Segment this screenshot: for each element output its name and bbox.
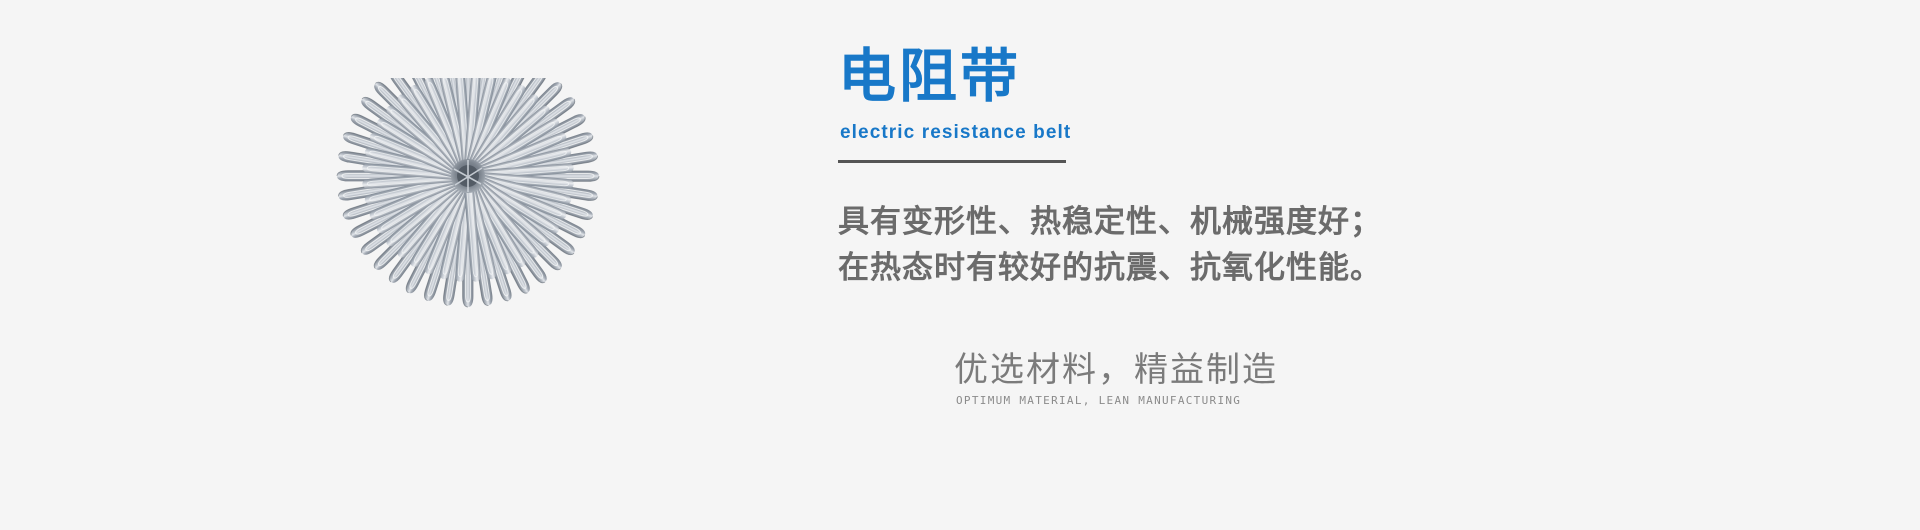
- tagline-chinese: 优选材料，精益制造: [954, 350, 1374, 390]
- tagline-english: OPTIMUM MATERIAL, LEAN MANUFACTURING: [956, 394, 1374, 408]
- title-divider: [838, 160, 1066, 163]
- banner-content: 电阻带 electric resistance belt 具有变形性、热稳定性、…: [838, 44, 1838, 484]
- product-description: 具有变形性、热稳定性、机械强度好； 在热态时有较好的抗震、抗氧化性能。: [838, 199, 1838, 291]
- product-image: [288, 78, 648, 428]
- product-banner: 电阻带 electric resistance belt 具有变形性、热稳定性、…: [0, 0, 1920, 530]
- description-line-2: 在热态时有较好的抗震、抗氧化性能。: [838, 245, 1838, 291]
- description-line-1: 具有变形性、热稳定性、机械强度好；: [838, 199, 1838, 245]
- brand-tagline: 优选材料，精益制造 OPTIMUM MATERIAL, LEAN MANUFAC…: [954, 350, 1374, 408]
- page-title: 电阻带: [838, 44, 1838, 110]
- page-subtitle: electric resistance belt: [840, 122, 1838, 144]
